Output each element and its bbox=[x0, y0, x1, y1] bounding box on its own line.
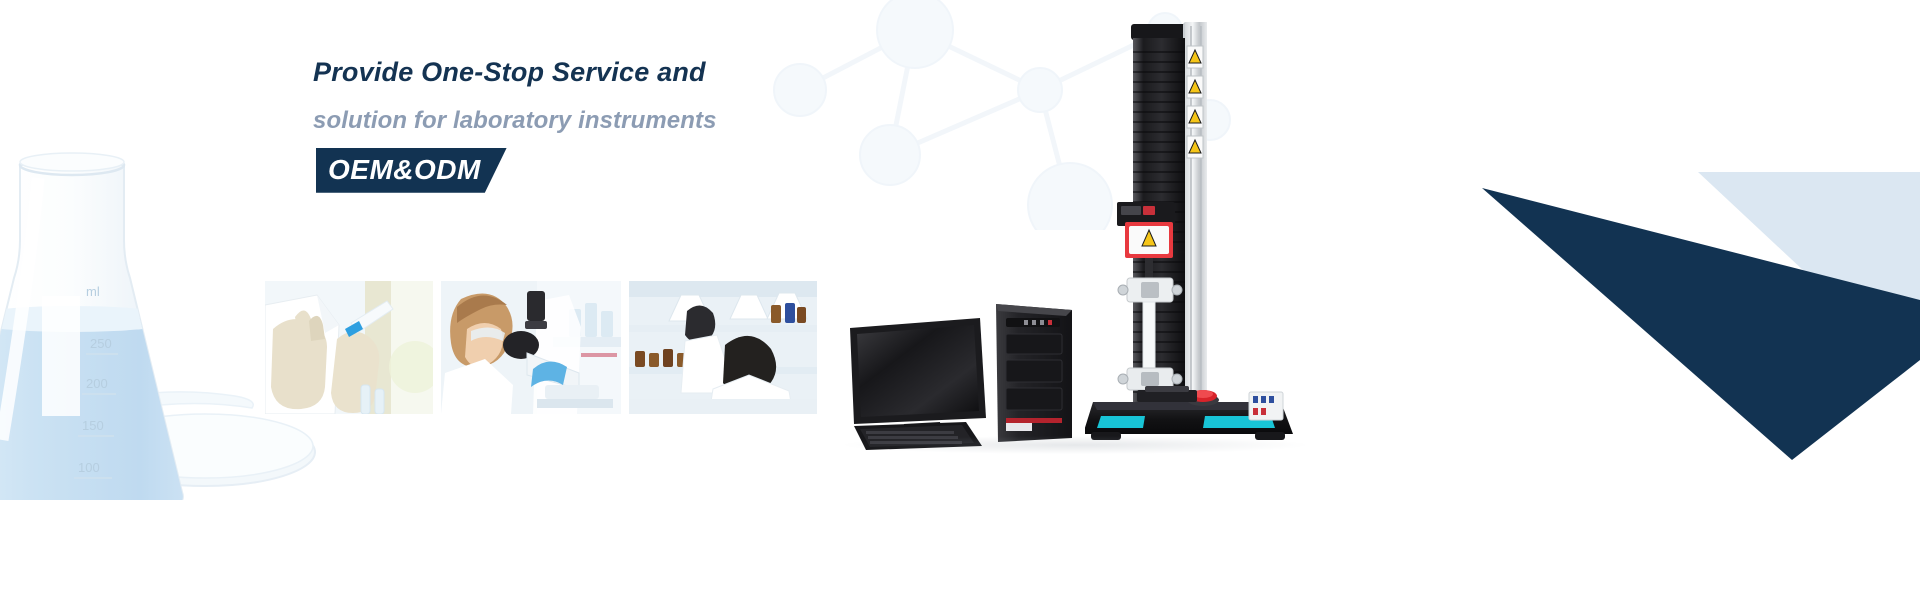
photo-pipetting bbox=[265, 281, 433, 414]
navy-arrow-shape bbox=[1482, 188, 1920, 460]
upper-grip bbox=[1118, 278, 1182, 302]
hero-banner: ml 250 200 150 100 Provide One-Stop Serv… bbox=[0, 0, 1920, 597]
headline: Provide One-Stop Service and bbox=[313, 58, 953, 86]
oem-odm-badge-wrap: OEM&ODM bbox=[316, 148, 507, 193]
oem-odm-badge: OEM&ODM bbox=[316, 148, 507, 193]
photo-microscope bbox=[441, 281, 621, 414]
pale-blue-wedge-shape bbox=[1698, 172, 1920, 310]
svg-text:150: 150 bbox=[82, 418, 104, 433]
equipment-shadow bbox=[845, 436, 1305, 454]
crosshead bbox=[1117, 202, 1175, 258]
erlenmeyer-flask: ml 250 200 150 100 bbox=[0, 153, 230, 500]
flask-graduations: ml 250 200 150 100 bbox=[78, 284, 112, 475]
universal-testing-machine bbox=[1085, 18, 1300, 443]
svg-text:250: 250 bbox=[90, 336, 112, 351]
base-console bbox=[1085, 386, 1293, 434]
copy-block: Provide One-Stop Service and solution fo… bbox=[313, 58, 953, 193]
subline: solution for laboratory instruments bbox=[313, 108, 953, 133]
svg-text:ml: ml bbox=[86, 284, 100, 299]
svg-text:100: 100 bbox=[78, 460, 100, 475]
desktop-computer: Monitor bbox=[848, 300, 1078, 450]
photo-lab-bench bbox=[629, 281, 817, 414]
photo-strip bbox=[265, 281, 817, 414]
tower bbox=[996, 304, 1072, 442]
specimen bbox=[1143, 302, 1155, 370]
svg-text:200: 200 bbox=[86, 376, 108, 391]
